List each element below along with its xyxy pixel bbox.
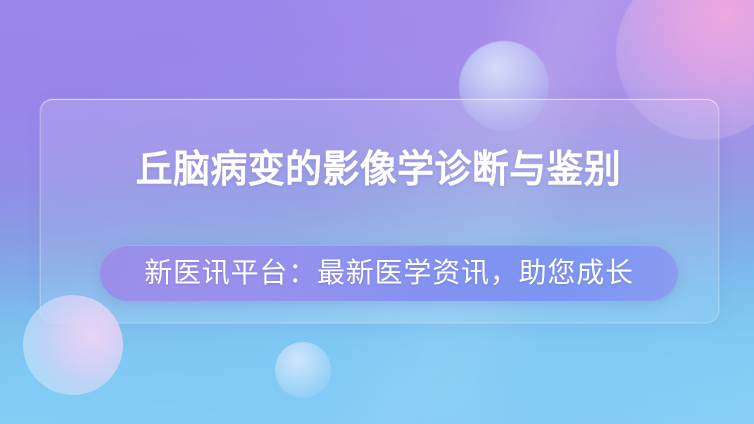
- blue-orb-bottom-center-decoration: [275, 342, 331, 398]
- slide-canvas: 丘脑病变的影像学诊断与鉴别 新医讯平台：最新医学资讯，助您成长: [0, 0, 754, 424]
- subtitle-pill: 新医讯平台：最新医学资讯，助您成长: [100, 245, 678, 301]
- lavender-orb-bottom-left-decoration: [23, 295, 123, 395]
- subtitle-text: 新医讯平台：最新医学资讯，助您成长: [144, 256, 634, 290]
- page-title: 丘脑病变的影像学诊断与鉴别: [49, 146, 708, 194]
